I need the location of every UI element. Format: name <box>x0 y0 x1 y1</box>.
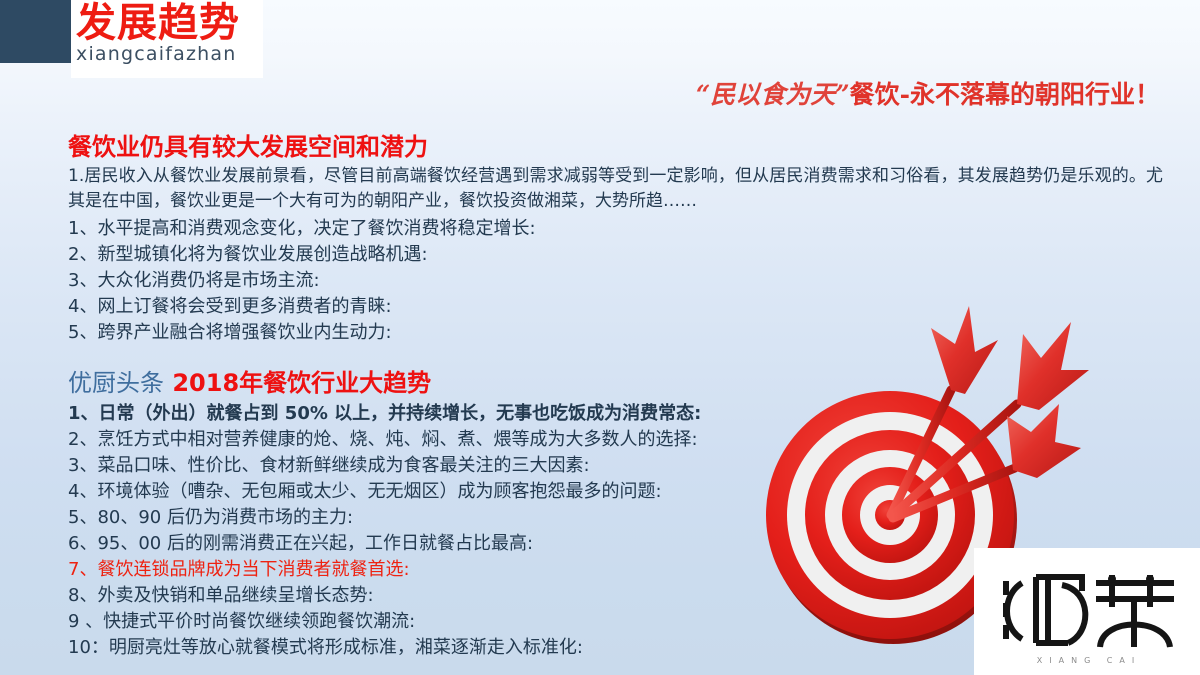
slide-slogan: “民以食为天”餐饮-永不落幕的朝阳行业！ <box>0 78 1160 112</box>
slide-canvas: 发展趋势 xiangcaifazhan “民以食为天”餐饮-永不落幕的朝阳行业！… <box>0 0 1200 675</box>
brand-logo-pinyin: xiangcaifazhan <box>76 43 276 65</box>
section2-heading-red: 2018年餐饮行业大趋势 <box>172 369 431 397</box>
section-divider-space <box>68 346 1168 368</box>
list-item: 5、跨界产业融合将增强餐饮业内生动力: <box>68 320 1168 346</box>
slogan-quoted-part: “民以食为天” <box>696 80 850 109</box>
footer-brand-logo-pinyin: XIANG CAI <box>1000 656 1178 665</box>
section1-heading: 餐饮业仍具有较大发展空间和潜力 <box>68 132 1168 162</box>
list-item: 3、菜品口味、性价比、食材新鲜继续成为食客最关注的三大因素: <box>68 453 1168 479</box>
list-item: 3、大众化消费仍将是市场主流: <box>68 268 1168 294</box>
list-item: 4、网上订餐将会受到更多消费者的青睐: <box>68 294 1168 320</box>
list-item: 2、新型城镇化将为餐饮业发展创造战略机遇: <box>68 242 1168 268</box>
navy-accent-block <box>0 0 71 63</box>
list-item: 1、水平提高和消费观念变化，决定了餐饮消费将稳定增长: <box>68 216 1168 242</box>
list-item: 2、烹饪方式中相对营养健康的炝、烧、炖、焖、煮、煨等成为大多数人的选择: <box>68 427 1168 453</box>
footer-brand-logo-icon <box>996 569 1182 653</box>
section1-list: 1、水平提高和消费观念变化，决定了餐饮消费将稳定增长: 2、新型城镇化将为餐饮业… <box>68 216 1168 346</box>
slogan-rest-part: 餐饮-永不落幕的朝阳行业！ <box>850 80 1160 109</box>
brand-logo-cn: 发展趋势 <box>76 2 276 44</box>
section1-paragraph: 1.居民收入从餐饮业发展前景看，尽管目前高端餐饮经营遇到需求减弱等受到一定影响，… <box>68 164 1163 214</box>
brand-logo: 发展趋势 xiangcaifazhan <box>76 2 276 76</box>
section2-heading: 优厨头条 2018年餐饮行业大趋势 <box>68 368 1168 398</box>
list-item: 1、日常（外出）就餐占到 50% 以上，并持续增长，无事也吃饭成为消费常态: <box>68 401 1168 427</box>
list-item: 4、环境体验（嘈杂、无包厢或太少、无无烟区）成为顾客抱怨最多的问题: <box>68 479 1168 505</box>
section2-heading-blue: 优厨头条 <box>68 369 164 397</box>
list-item: 5、80、90 后仍为消费市场的主力: <box>68 505 1168 531</box>
